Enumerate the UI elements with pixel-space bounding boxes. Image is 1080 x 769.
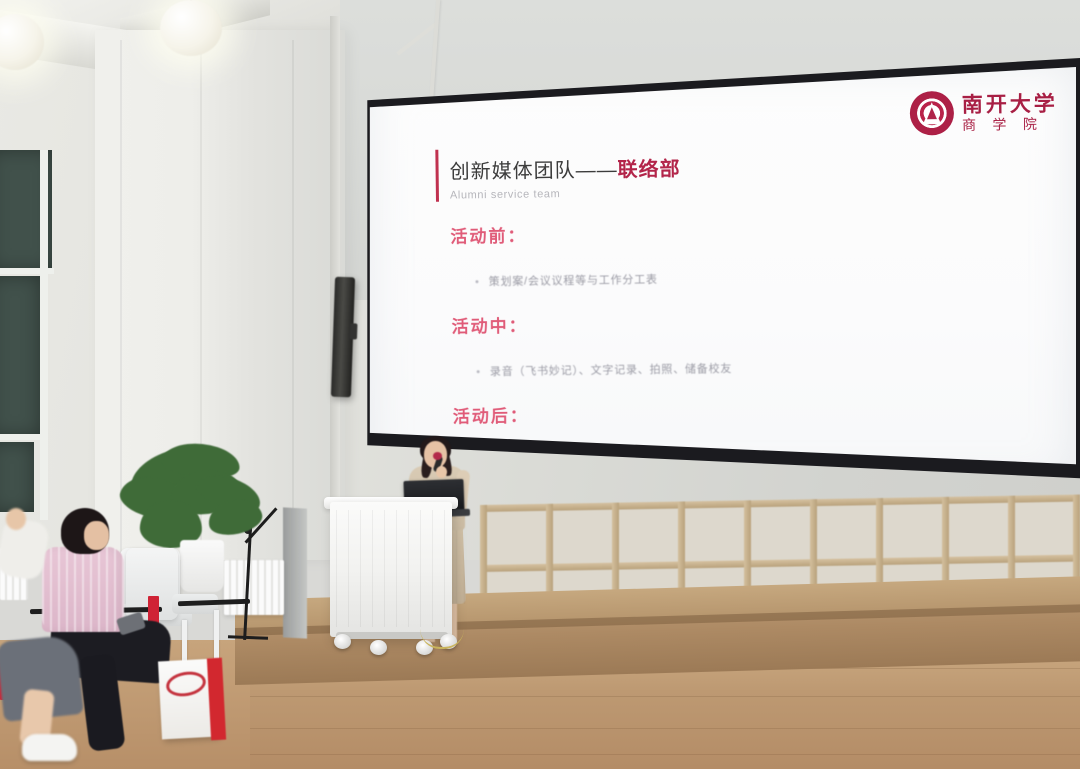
presentation-photo-scene: 南开大学 商 学 院 创新媒体团队——联络部 Alumni service te… [0, 0, 1080, 769]
slide-content: 南开大学 商 学 院 创新媒体团队——联络部 Alumni service te… [364, 59, 1078, 492]
slide-title-highlight: 联络部 [617, 159, 680, 182]
lectern-panel-grooves [336, 510, 446, 627]
lectern-caster [370, 640, 387, 655]
section-bullet: 录音（飞书妙记）、文字记录、拍照、储备校友 [476, 360, 732, 379]
slide-title-block: 创新媒体团队——联络部 Alumni service team [435, 153, 681, 202]
slide-title-main: 创新媒体团队—— [449, 159, 617, 183]
section-heading: 活动前： [450, 220, 657, 248]
grey-wall-panel [283, 507, 307, 638]
audience-member-face [84, 521, 109, 550]
slide-logo: 南开大学 商 学 院 [910, 90, 1059, 136]
slide-subtitle: Alumni service team [450, 187, 681, 202]
section-bullet: 策划案/会议议程等与工作分工表 [475, 271, 658, 289]
window-pane-low [0, 442, 34, 512]
logo-text: 南开大学 商 学 院 [962, 92, 1059, 132]
foreground-person-hand [6, 508, 26, 530]
logo-school-name: 商 学 院 [962, 117, 1058, 132]
slide-section-during: 活动中： 录音（飞书妙记）、文字记录、拍照、储备校友 [451, 309, 732, 380]
foreground-person-shoe [22, 734, 77, 761]
wall-seam-1 [120, 40, 122, 560]
lectern-caster [334, 634, 351, 649]
slide-title: 创新媒体团队——联络部 [449, 153, 680, 185]
presenter-hand [436, 466, 447, 478]
pendant-lamp-right [160, 0, 222, 56]
microphone-windscreen [433, 452, 442, 460]
wall-speaker [331, 277, 355, 398]
led-display: 南开大学 商 学 院 创新媒体团队——联络部 Alumni service te… [363, 58, 1080, 498]
section-heading: 活动后： [453, 401, 597, 428]
wall-radiator [224, 560, 284, 615]
logo-university-name: 南开大学 [962, 92, 1058, 114]
title-accent-bar [435, 150, 439, 202]
mobile-lectern [330, 502, 452, 637]
slide-section-before: 活动前： 策划案/会议议程等与工作分工表 [450, 220, 658, 290]
display-panel: 南开大学 商 学 院 创新媒体团队——联络部 Alumni service te… [367, 64, 1076, 488]
audience-member-pink-shirt [42, 547, 124, 632]
shirt-stripes [42, 547, 124, 632]
section-heading: 活动中： [451, 309, 731, 338]
plant-pot [180, 540, 224, 592]
nankai-university-crest-icon [910, 91, 955, 136]
window-frame-v [40, 150, 48, 520]
slide-section-after: 活动后： 信息共享、发刊通讯 [453, 401, 598, 470]
wall-seam-3 [292, 40, 294, 560]
window-pane-mid [0, 276, 40, 436]
